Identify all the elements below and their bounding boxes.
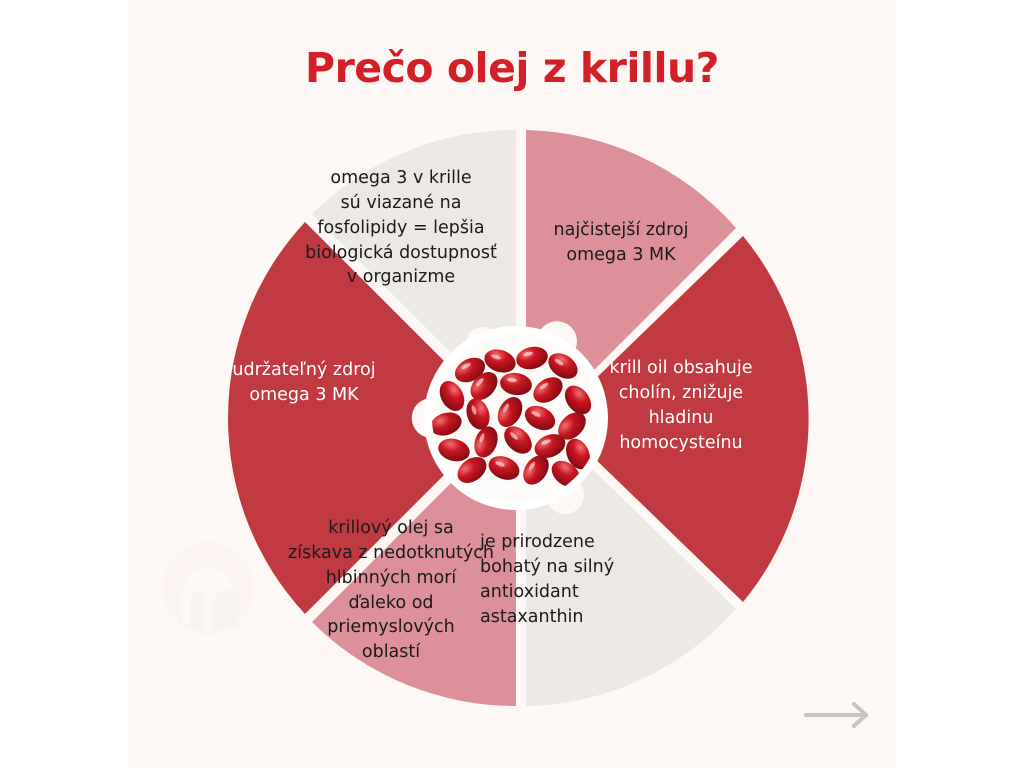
piece-label-left: udržateľný zdroj omega 3 MK bbox=[198, 358, 410, 408]
piece-label-top-right: najčistejší zdroj omega 3 MK bbox=[510, 218, 732, 268]
infographic-artboard: Prečo olej z krillu? bbox=[128, 0, 896, 768]
next-arrow-icon[interactable] bbox=[800, 700, 880, 730]
puzzle-wheel-diagram: omega 3 v krille sú viazané na fosfolipi… bbox=[180, 118, 844, 718]
piece-label-right: krill oil obsahuje cholín, znižuje hladi… bbox=[578, 356, 784, 455]
screenshot-canvas: Prečo olej z krillu? bbox=[0, 0, 1024, 768]
piece-label-bottom-right: je prirodzene bohatý na silný antioxidan… bbox=[480, 530, 696, 629]
page-title: Prečo olej z krillu? bbox=[128, 44, 896, 92]
piece-label-top-left: omega 3 v krille sú viazané na fosfolipi… bbox=[288, 166, 514, 290]
brand-watermark-logo bbox=[148, 528, 268, 648]
piece-label-bottom-left: krillový olej sa získava z nedotknutých … bbox=[278, 516, 504, 665]
